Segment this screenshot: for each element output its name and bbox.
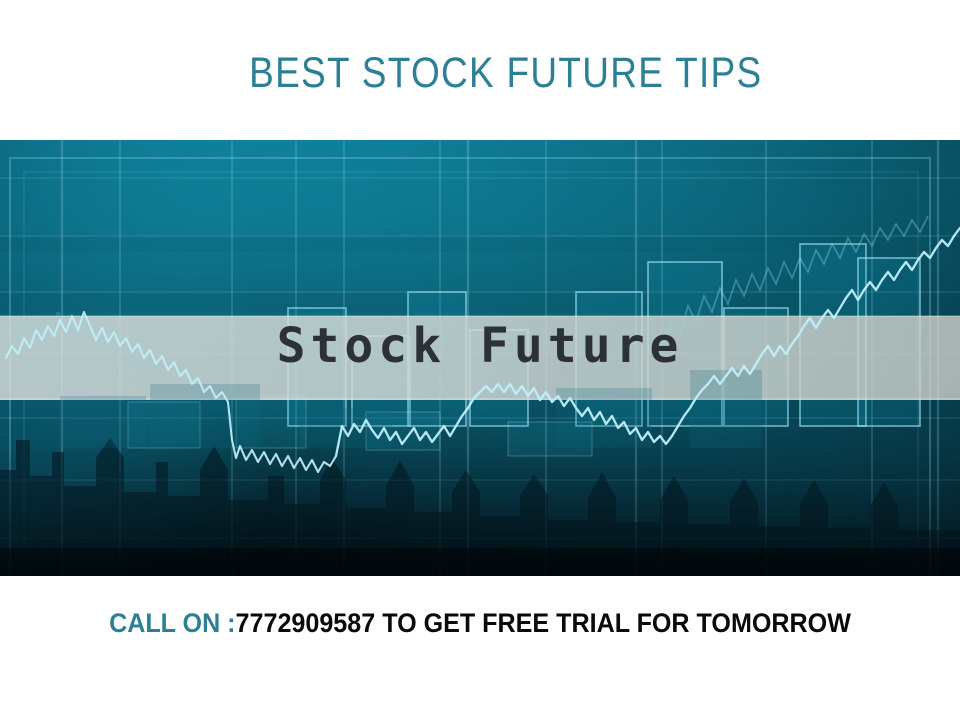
phone-number[interactable]: 7772909587 — [236, 608, 376, 638]
slide-root: BEST STOCK FUTURE TIPS — [0, 0, 960, 720]
page-title: BEST STOCK FUTURE TIPS — [67, 52, 893, 95]
stock-future-banner-image: Stock Future — [0, 140, 960, 576]
banner-artwork — [0, 140, 960, 576]
call-on-label: CALL ON : — [109, 608, 235, 638]
free-trial-text: TO GET FREE TRIAL FOR TOMORROW — [375, 608, 851, 638]
call-to-action-line: CALL ON :7772909587 TO GET FREE TRIAL FO… — [34, 610, 927, 637]
